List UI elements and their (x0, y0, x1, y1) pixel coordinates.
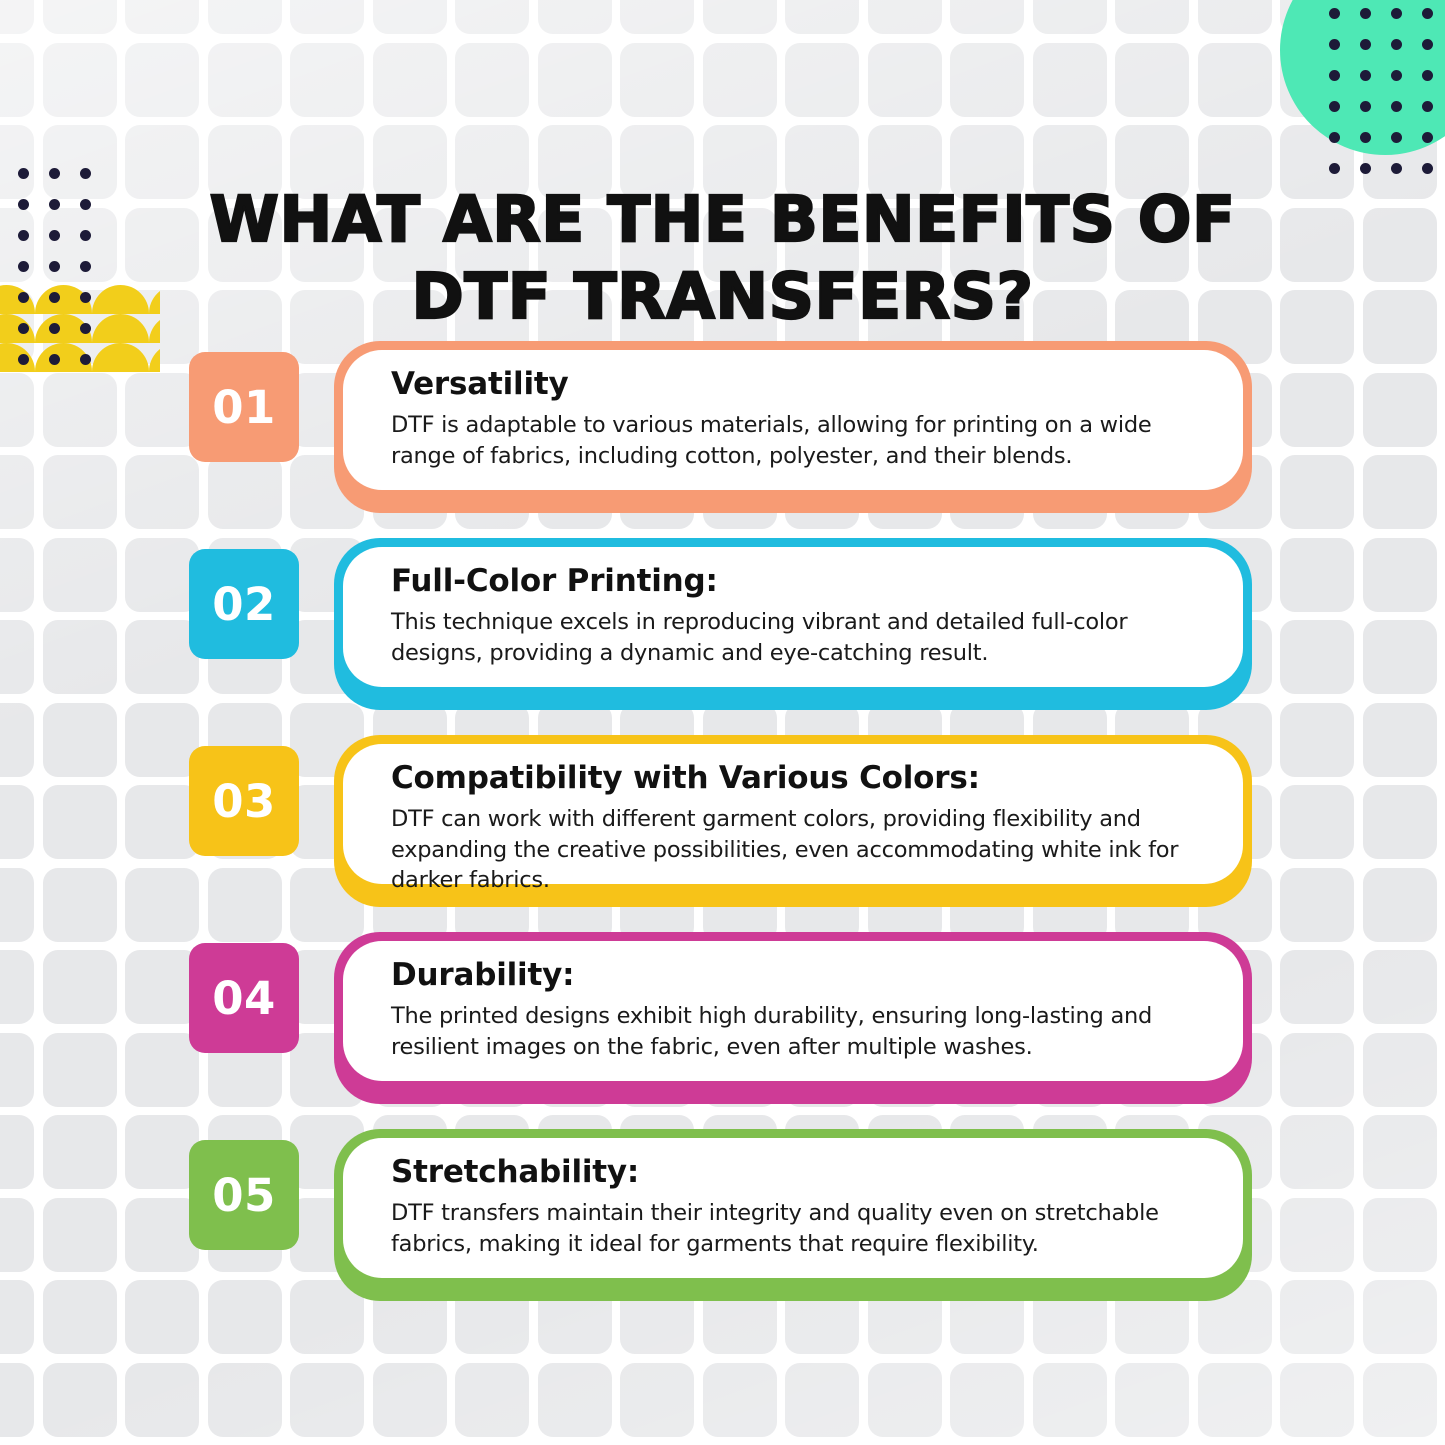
decorative-dot (1329, 163, 1340, 174)
benefit-card[interactable]: 05Stretchability:DTF transfers maintain … (0, 1129, 1445, 1315)
decorative-dot (18, 292, 29, 303)
decorative-dot (1360, 70, 1371, 81)
decorative-dot (1329, 8, 1340, 19)
decorative-dot (1391, 132, 1402, 143)
decorative-dot (18, 230, 29, 241)
decorative-dot (1360, 132, 1371, 143)
card-number-badge: 03 (189, 746, 299, 856)
decorative-dot (1329, 70, 1340, 81)
decorative-dot (1422, 163, 1433, 174)
page-title: WHAT ARE THE BENEFITS OF DTF TRANSFERS? (175, 182, 1270, 336)
card-number-badge: 05 (189, 1140, 299, 1250)
benefit-card[interactable]: 01VersatilityDTF is adaptable to various… (0, 341, 1445, 527)
decorative-dot (1391, 163, 1402, 174)
card-body: Stretchability:DTF transfers maintain th… (343, 1138, 1243, 1278)
card-description: DTF is adaptable to various materials, a… (391, 410, 1209, 471)
card-title: Compatibility with Various Colors: (391, 761, 1209, 795)
decorative-dot (1391, 39, 1402, 50)
decorative-dot (80, 168, 91, 179)
card-title: Stretchability: (391, 1155, 1209, 1189)
decorative-dot (49, 292, 60, 303)
card-frame: Full-Color Printing:This technique excel… (334, 538, 1252, 710)
card-number-badge: 04 (189, 943, 299, 1053)
decorative-dot (49, 199, 60, 210)
card-title: Full-Color Printing: (391, 564, 1209, 598)
decorative-dot (1422, 101, 1433, 112)
decorative-dot (18, 323, 29, 334)
card-number-label: 02 (212, 578, 276, 631)
decorative-dot (49, 230, 60, 241)
card-description: The printed designs exhibit high durabil… (391, 1001, 1209, 1062)
decorative-dot (1391, 8, 1402, 19)
decorative-dot (49, 168, 60, 179)
benefit-card[interactable]: 02Full-Color Printing:This technique exc… (0, 538, 1445, 724)
card-body: Full-Color Printing:This technique excel… (343, 547, 1243, 687)
card-frame: Stretchability:DTF transfers maintain th… (334, 1129, 1252, 1301)
decorative-dot (80, 323, 91, 334)
decorative-dot (80, 261, 91, 272)
decorative-dot (1360, 163, 1371, 174)
decorative-dot (1391, 101, 1402, 112)
decorative-dot (1329, 132, 1340, 143)
card-description: DTF can work with different garment colo… (391, 804, 1209, 896)
card-description: DTF transfers maintain their integrity a… (391, 1198, 1209, 1259)
card-number-label: 04 (212, 972, 276, 1025)
decorative-dot (1422, 132, 1433, 143)
decorative-dot (80, 292, 91, 303)
card-number-label: 01 (212, 381, 276, 434)
card-title: Versatility (391, 367, 1209, 401)
card-body: Durability:The printed designs exhibit h… (343, 941, 1243, 1081)
card-title: Durability: (391, 958, 1209, 992)
decorative-dot (1422, 8, 1433, 19)
decorative-dot (1329, 101, 1340, 112)
decorative-dot (1360, 39, 1371, 50)
decorative-dot (49, 323, 60, 334)
card-frame: Durability:The printed designs exhibit h… (334, 932, 1252, 1104)
card-number-label: 03 (212, 775, 276, 828)
decorative-dot (1329, 39, 1340, 50)
decorative-dot (1391, 70, 1402, 81)
decorative-dot (1422, 70, 1433, 81)
decorative-dot (1360, 101, 1371, 112)
card-frame: VersatilityDTF is adaptable to various m… (334, 341, 1252, 513)
card-body: Compatibility with Various Colors:DTF ca… (343, 744, 1243, 884)
card-body: VersatilityDTF is adaptable to various m… (343, 350, 1243, 490)
card-description: This technique excels in reproducing vib… (391, 607, 1209, 668)
decorative-dot (18, 199, 29, 210)
benefit-card[interactable]: 03Compatibility with Various Colors:DTF … (0, 735, 1445, 921)
decorative-dot (80, 199, 91, 210)
benefit-card[interactable]: 04Durability:The printed designs exhibit… (0, 932, 1445, 1118)
dot-grid-top-right (0, 0, 1445, 200)
decorative-dot (1360, 8, 1371, 19)
infographic-poster: WHAT ARE THE BENEFITS OF DTF TRANSFERS? … (0, 0, 1445, 1445)
card-number-badge: 02 (189, 549, 299, 659)
card-frame: Compatibility with Various Colors:DTF ca… (334, 735, 1252, 907)
decorative-dot (49, 261, 60, 272)
decorative-dot (18, 168, 29, 179)
decorative-dot (80, 230, 91, 241)
card-number-label: 05 (212, 1169, 276, 1222)
decorative-dot (1422, 39, 1433, 50)
card-number-badge: 01 (189, 352, 299, 462)
decorative-dot (18, 261, 29, 272)
